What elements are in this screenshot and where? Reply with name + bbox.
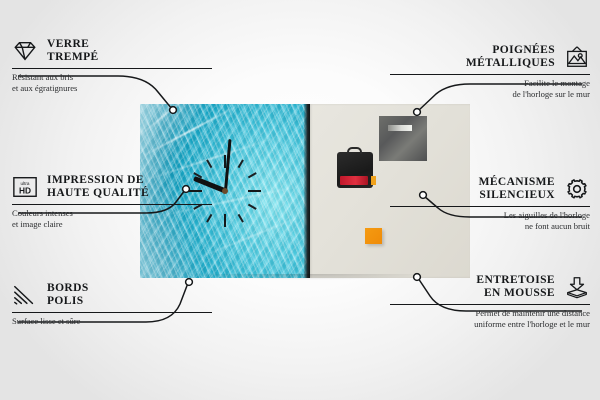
battery-terminal [371, 176, 376, 185]
feature-header: ENTRETOISE EN MOUSSE [390, 274, 590, 300]
ultra-hd-icon: ultra HD [12, 175, 38, 199]
feature-header: MÉCANISME SILENCIEUX [390, 176, 590, 202]
feature-verre-trempe: VERRE TREMPÉ Résistant aux bris et aux é… [12, 38, 212, 93]
svg-text:HD: HD [19, 186, 31, 196]
diamond-icon [12, 39, 38, 63]
feature-title: BORDS POLIS [47, 282, 89, 308]
hand-center-cap [222, 188, 228, 194]
feature-header: POIGNÉES MÉTALLIQUES [390, 44, 590, 70]
feature-description: Les aiguilles de l'horloge ne font aucun… [390, 210, 590, 231]
feature-description: Surface lisse et sûre [12, 316, 212, 326]
feature-description: Permet de maintenir une distance uniform… [390, 308, 590, 329]
feature-title: ENTRETOISE EN MOUSSE [476, 274, 555, 300]
feature-mecanisme-silencieux: MÉCANISME SILENCIEUX Les aiguilles de l'… [390, 176, 590, 231]
gear-icon [564, 177, 590, 201]
feature-rule [12, 312, 212, 313]
polished-edges-icon [12, 283, 38, 307]
feature-rule [12, 68, 212, 69]
quartz-movement-box [337, 152, 373, 188]
feature-description: Facilite le montage de l'horloge sur le … [390, 78, 590, 99]
feature-rule [390, 74, 590, 75]
feature-title: MÉCANISME SILENCIEUX [479, 176, 555, 202]
feature-title: VERRE TREMPÉ [47, 38, 99, 64]
feature-title: IMPRESSION DE HAUTE QUALITÉ [47, 174, 149, 200]
feature-title: POIGNÉES MÉTALLIQUES [466, 44, 555, 70]
feature-header: ultra HD IMPRESSION DE HAUTE QUALITÉ [12, 174, 212, 200]
aa-battery [340, 176, 368, 185]
hanging-frame-icon [564, 45, 590, 69]
feature-entretoise-en-mousse: ENTRETOISE EN MOUSSE Permet de maintenir… [390, 274, 590, 329]
feature-header: VERRE TREMPÉ [12, 38, 212, 64]
mechanism-hook [347, 147, 362, 154]
feature-rule [12, 204, 212, 205]
feature-rule [390, 206, 590, 207]
feature-bords-polis: BORDS POLIS Surface lisse et sûre [12, 282, 212, 327]
feature-description: Résistant aux bris et aux égratignures [12, 72, 212, 93]
hanger-slot [388, 125, 412, 131]
foam-spacer-icon [564, 275, 590, 299]
feature-header: BORDS POLIS [12, 282, 212, 308]
feature-poignees-metalliques: POIGNÉES MÉTALLIQUES Facilite le montage… [390, 44, 590, 99]
orange-foam-spacer [365, 228, 382, 244]
metal-hanger-plate [379, 116, 427, 161]
feature-rule [390, 304, 590, 305]
feature-description: Couleurs intenses et image claire [12, 208, 212, 229]
feature-impression-haute-qualite: ultra HD IMPRESSION DE HAUTE QUALITÉ Cou… [12, 174, 212, 229]
